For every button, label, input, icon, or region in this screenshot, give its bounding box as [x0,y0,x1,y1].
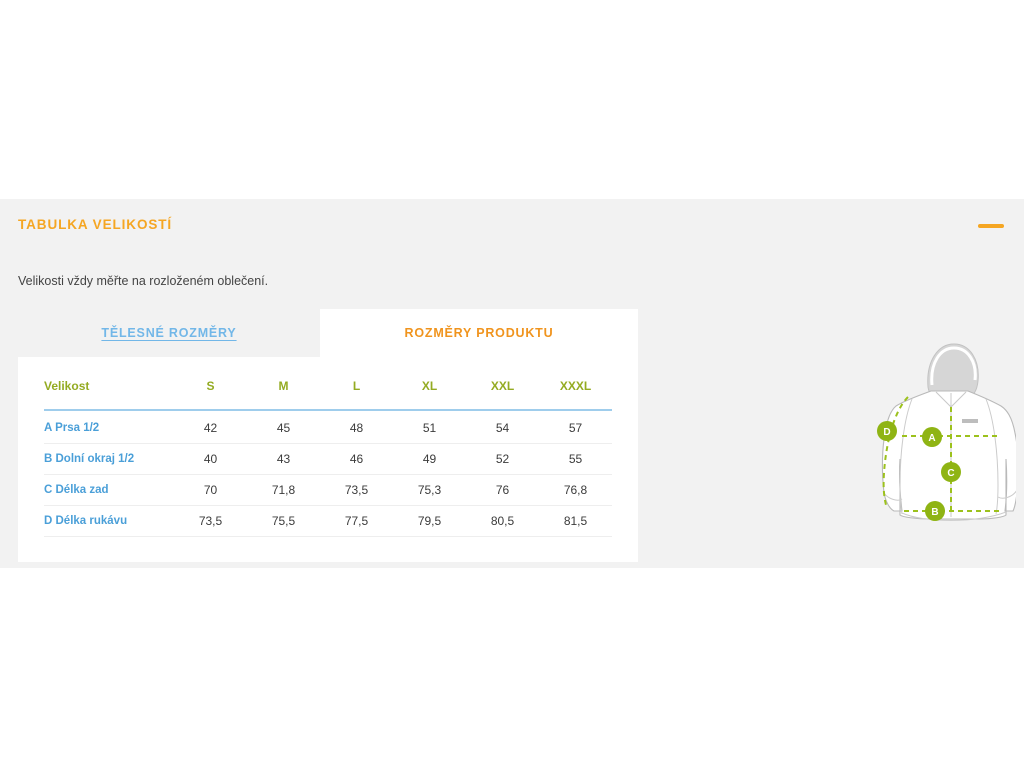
row-label: D Délka rukávu [44,506,174,537]
cell-value: 73,5 [320,475,393,506]
cell-value: 75,3 [393,475,466,506]
cell-value: 80,5 [466,506,539,537]
minus-icon[interactable] [978,219,1004,233]
jacket-hood [928,344,978,398]
cell-value: 73,5 [174,506,247,537]
cell-value: 46 [320,444,393,475]
cell-value: 42 [174,410,247,444]
column-header-xxxl: XXXL [539,371,612,410]
size-table-panel: Velikost S M L XL XXL XXXL A Prsa 1/2 42… [18,357,638,562]
size-table-body: A Prsa 1/2 42 45 48 51 54 57 B Dolní okr… [44,410,612,537]
cell-value: 51 [393,410,466,444]
column-header-xl: XL [393,371,466,410]
cell-value: 57 [539,410,612,444]
minus-icon-bar [978,224,1004,228]
column-header-l: L [320,371,393,410]
row-label: B Dolní okraj 1/2 [44,444,174,475]
row-label: A Prsa 1/2 [44,410,174,444]
column-header-velikost: Velikost [44,371,174,410]
cell-value: 75,5 [247,506,320,537]
section-header: TABULKA VELIKOSTÍ [18,215,1006,245]
tab-telesne-rozmery[interactable]: TĚLESNÉ ROZMĚRY [18,309,320,357]
brand-logo [962,419,978,423]
column-header-xxl: XXL [466,371,539,410]
tab-telesne-rozmery-label: TĚLESNÉ ROZMĚRY [101,326,236,340]
size-table: Velikost S M L XL XXL XXXL A Prsa 1/2 42… [44,371,612,537]
tab-rozmery-produktu[interactable]: ROZMĚRY PRODUKTU [320,309,638,357]
cell-value: 71,8 [247,475,320,506]
cell-value: 54 [466,410,539,444]
cell-value: 45 [247,410,320,444]
table-row: C Délka zad 70 71,8 73,5 75,3 76 76,8 [44,475,612,506]
jacket-body [883,391,1017,519]
table-row: B Dolní okraj 1/2 40 43 46 49 52 55 [44,444,612,475]
cell-value: 76 [466,475,539,506]
cell-value: 40 [174,444,247,475]
page-root: TABULKA VELIKOSTÍ Velikosti vždy měřte n… [0,0,1024,768]
cell-value: 76,8 [539,475,612,506]
jacket-measurement-diagram: D A C B [868,335,1016,547]
badge-a-label: A [928,433,935,444]
table-header-row: Velikost S M L XL XXL XXXL [44,371,612,410]
column-header-m: M [247,371,320,410]
size-table-head: Velikost S M L XL XXL XXXL [44,371,612,410]
cell-value: 70 [174,475,247,506]
table-row: D Délka rukávu 73,5 75,5 77,5 79,5 80,5 … [44,506,612,537]
page-title: TABULKA VELIKOSTÍ [18,215,172,235]
cell-value: 48 [320,410,393,444]
tab-bar: TĚLESNÉ ROZMĚRY ROZMĚRY PRODUKTU [18,309,638,357]
cell-value: 79,5 [393,506,466,537]
cell-value: 49 [393,444,466,475]
cell-value: 77,5 [320,506,393,537]
cell-value: 55 [539,444,612,475]
row-label: C Délka zad [44,475,174,506]
badge-c-label: C [947,468,954,479]
tab-rozmery-produktu-label: ROZMĚRY PRODUKTU [405,326,554,340]
table-row: A Prsa 1/2 42 45 48 51 54 57 [44,410,612,444]
cell-value: 81,5 [539,506,612,537]
size-chart-section: TABULKA VELIKOSTÍ Velikosti vždy měřte n… [0,199,1024,568]
cell-value: 52 [466,444,539,475]
column-header-s: S [174,371,247,410]
badge-d-label: D [883,427,890,438]
intro-text: Velikosti vždy měřte na rozloženém obleč… [18,272,268,290]
cell-value: 43 [247,444,320,475]
badge-b-label: B [931,507,938,518]
